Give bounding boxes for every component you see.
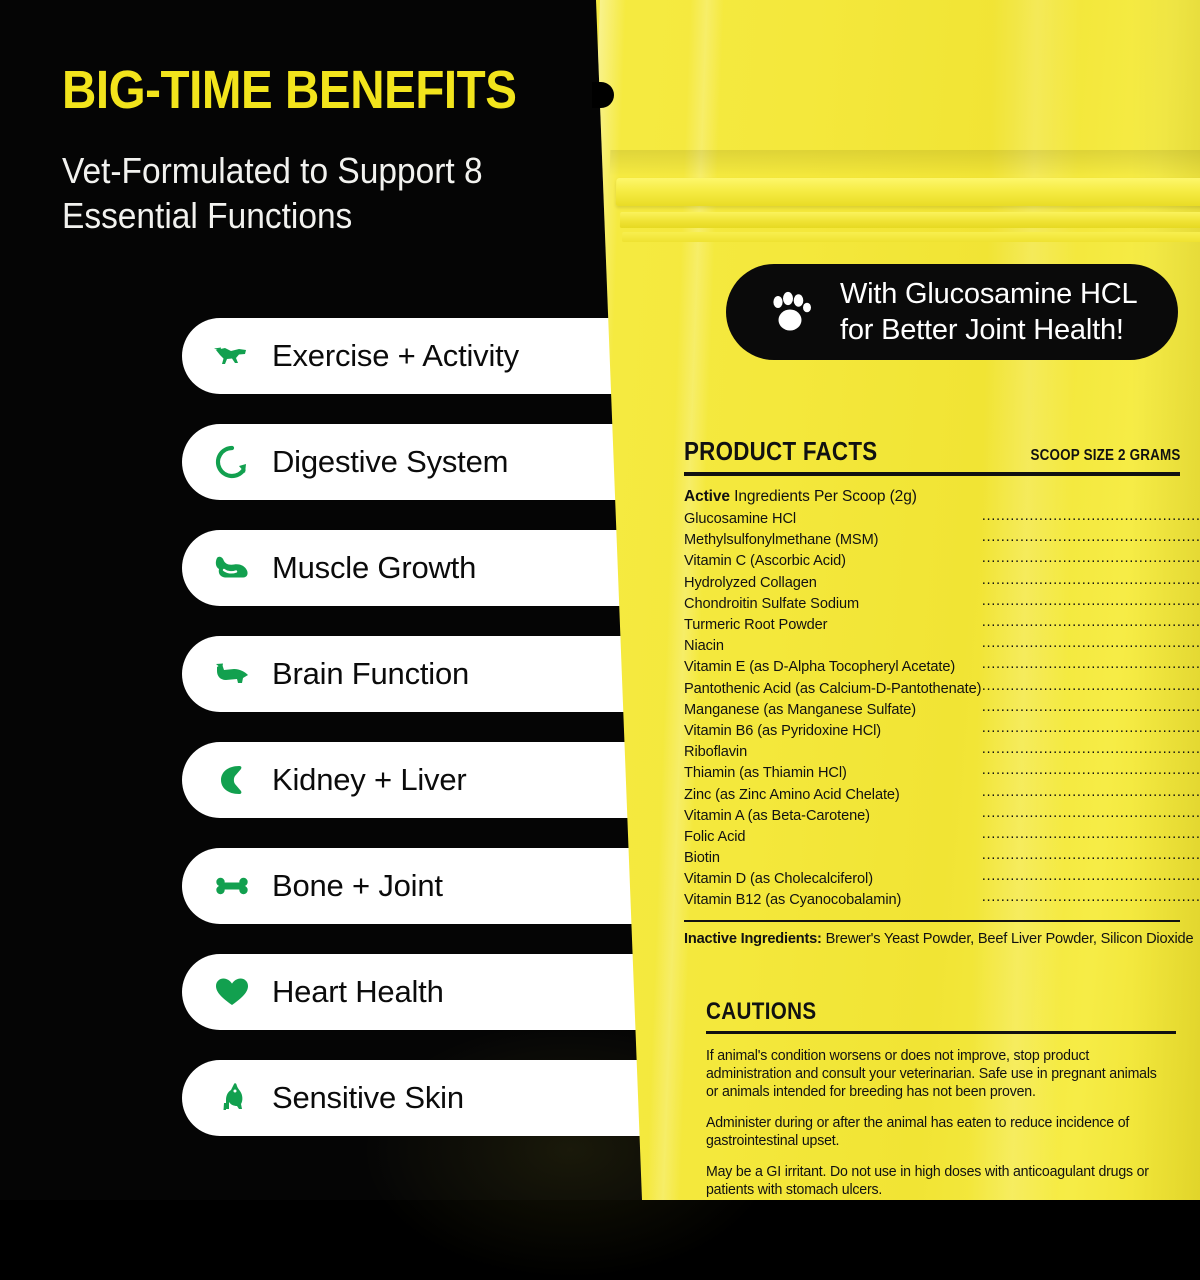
ingredient-name: Manganese (as Manganese Sulfate): [684, 699, 981, 720]
table-row: Vitamin D (as Cholecalciferol)··········…: [684, 869, 1200, 890]
page-subtitle: Vet-Formulated to Support 8 Essential Fu…: [62, 148, 546, 238]
kidney-icon: [212, 760, 252, 800]
leader-dots: ········································…: [981, 530, 1200, 551]
table-row: Vitamin C (Ascorbic Acid)···············…: [684, 551, 1200, 572]
ingredient-name: Folic Acid: [684, 826, 981, 847]
ingredient-name: Biotin: [684, 848, 981, 869]
leader-dots: ········································…: [981, 784, 1200, 805]
divider: [706, 1031, 1176, 1034]
ingredient-name: Hydrolyzed Collagen: [684, 572, 981, 593]
active-ingredients-header-rest: Ingredients Per Scoop (2g): [730, 488, 917, 505]
list-item-label: Kidney + Liver: [272, 762, 467, 798]
list-item-label: Sensitive Skin: [272, 1080, 464, 1116]
table-row: Pantothenic Acid (as Calcium-D-Pantothen…: [684, 678, 1200, 699]
table-row: Folic Acid······························…: [684, 826, 1200, 847]
ingredient-name: Vitamin B6 (as Pyridoxine HCl): [684, 720, 981, 741]
table-row: Methylsulfonylmethane (MSM)·············…: [684, 530, 1200, 551]
divider: [684, 472, 1180, 476]
sitting-dog-icon: [212, 1078, 252, 1118]
flexed-bicep-icon: [212, 548, 252, 588]
table-row: Turmeric Root Powder····················…: [684, 614, 1200, 635]
leader-dots: ········································…: [981, 699, 1200, 720]
ingredient-name: Pantothenic Acid (as Calcium-D-Pantothen…: [684, 678, 981, 699]
product-facts-title: PRODUCT FACTS: [684, 436, 877, 467]
ingredient-name: Vitamin A (as Beta-Carotene): [684, 805, 981, 826]
ingredient-name: Vitamin E (as D-Alpha Tocopheryl Acetate…: [684, 657, 981, 678]
inactive-ingredients: Inactive Ingredients: Brewer's Yeast Pow…: [684, 931, 1180, 947]
cautions-title: CAUTIONS: [706, 998, 1110, 1026]
hang-hole-notch: [592, 82, 614, 108]
ingredient-name: Glucosamine HCl: [684, 509, 981, 530]
divider: [684, 920, 1180, 922]
ingredient-name: Turmeric Root Powder: [684, 614, 981, 635]
ingredient-name: Vitamin C (Ascorbic Acid): [684, 551, 981, 572]
bag-zipper: [610, 150, 1200, 260]
leader-dots: ········································…: [981, 720, 1200, 741]
ingredient-name: Vitamin D (as Cholecalciferol): [684, 869, 981, 890]
table-row: Vitamin A (as Beta-Carotene)············…: [684, 805, 1200, 826]
leader-dots: ········································…: [981, 657, 1200, 678]
table-row: Vitamin E (as D-Alpha Tocopheryl Acetate…: [684, 657, 1200, 678]
list-item-label: Brain Function: [272, 656, 469, 692]
ingredient-name: Thiamin (as Thiamin HCl): [684, 763, 981, 784]
ingredient-name: Methylsulfonylmethane (MSM): [684, 530, 981, 551]
ingredient-name: Niacin: [684, 636, 981, 657]
product-facts-panel: PRODUCT FACTS SCOOP SIZE 2 GRAMS Active …: [684, 436, 1180, 947]
leader-dots: ········································…: [981, 742, 1200, 763]
cautions-body: If animal's condition worsens or does no…: [706, 1047, 1176, 1199]
caution-paragraph: May be a GI irritant. Do not use in high…: [706, 1163, 1162, 1199]
inactive-ingredients-label: Inactive Ingredients:: [684, 931, 822, 947]
status-badge: With Glucosamine HCL for Better Joint He…: [726, 264, 1178, 360]
active-ingredients-header: Active Ingredients Per Scoop (2g): [684, 488, 1180, 506]
table-row: Zinc (as Zinc Amino Acid Chelate)·······…: [684, 784, 1200, 805]
leader-dots: ········································…: [981, 678, 1200, 699]
list-item-label: Digestive System: [272, 444, 508, 480]
list-item: Exercise + Activity: [182, 318, 802, 394]
paw-print-icon: [762, 286, 818, 338]
leader-dots: ········································…: [981, 826, 1200, 847]
ingredients-table: Glucosamine HCl·························…: [684, 509, 1200, 912]
list-item-label: Heart Health: [272, 974, 444, 1010]
cautions-panel: CAUTIONS If animal's condition worsens o…: [706, 998, 1176, 1199]
heart-icon: [212, 972, 252, 1012]
table-row: Biotin··································…: [684, 848, 1200, 869]
leader-dots: ········································…: [981, 848, 1200, 869]
table-row: Thiamin (as Thiamin HCl)················…: [684, 763, 1200, 784]
leader-dots: ········································…: [981, 572, 1200, 593]
inactive-ingredients-value: Brewer's Yeast Powder, Beef Liver Powder…: [826, 931, 1194, 947]
dog-head-icon: [212, 654, 252, 694]
table-row: Hydrolyzed Collagen·····················…: [684, 572, 1200, 593]
table-row: Riboflavin······························…: [684, 742, 1200, 763]
running-dog-icon: [212, 336, 252, 376]
leader-dots: ········································…: [981, 805, 1200, 826]
ingredient-name: Riboflavin: [684, 742, 981, 763]
active-ingredients-header-bold: Active: [684, 488, 730, 505]
caution-paragraph: If animal's condition worsens or does no…: [706, 1047, 1162, 1101]
leader-dots: ········································…: [981, 593, 1200, 614]
page-title: BIG-TIME BENEFITS: [62, 60, 520, 120]
scoop-size-label: SCOOP SIZE 2 GRAMS: [1030, 447, 1180, 465]
table-row: Vitamin B6 (as Pyridoxine HCl)··········…: [684, 720, 1200, 741]
leader-dots: ········································…: [981, 763, 1200, 784]
table-row: Niacin··································…: [684, 636, 1200, 657]
list-item-label: Bone + Joint: [272, 868, 443, 904]
leader-dots: ········································…: [981, 890, 1200, 911]
leader-dots: ········································…: [981, 509, 1200, 530]
ingredient-name: Zinc (as Zinc Amino Acid Chelate): [684, 784, 981, 805]
table-row: Glucosamine HCl·························…: [684, 509, 1200, 530]
list-item-label: Exercise + Activity: [272, 338, 519, 374]
leader-dots: ········································…: [981, 551, 1200, 572]
table-row: Chondroitin Sulfate Sodium··············…: [684, 593, 1200, 614]
bone-icon: [212, 866, 252, 906]
circular-arrow-icon: [212, 442, 252, 482]
ingredient-name: Vitamin B12 (as Cyanocobalamin): [684, 890, 981, 911]
badge-text: With Glucosamine HCL for Better Joint He…: [840, 276, 1137, 348]
ingredient-name: Chondroitin Sulfate Sodium: [684, 593, 981, 614]
caution-paragraph: Administer during or after the animal ha…: [706, 1114, 1162, 1150]
table-row: Manganese (as Manganese Sulfate)········…: [684, 699, 1200, 720]
leader-dots: ········································…: [981, 869, 1200, 890]
leader-dots: ········································…: [981, 614, 1200, 635]
list-item-label: Muscle Growth: [272, 550, 476, 586]
leader-dots: ········································…: [981, 636, 1200, 657]
table-row: Vitamin B12 (as Cyanocobalamin)·········…: [684, 890, 1200, 911]
